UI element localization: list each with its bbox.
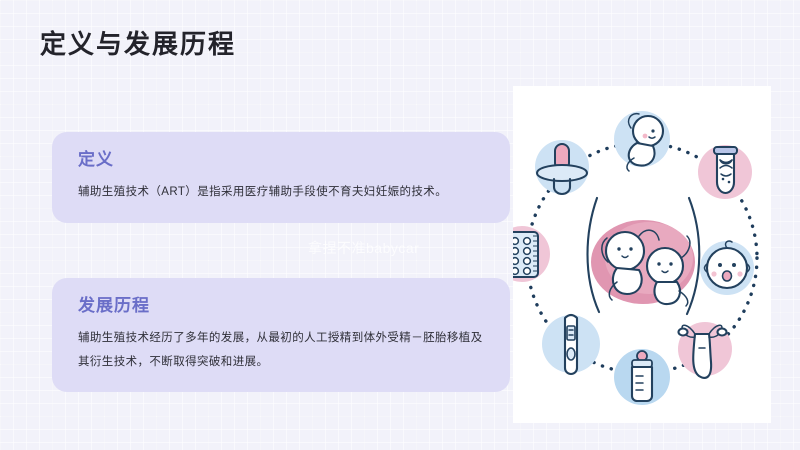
history-card-body: 辅助生殖技术经历了多年的发展，从最初的人工授精到体外受精－胚胎移植及其衍生技术，… bbox=[78, 327, 486, 374]
definition-card: 定义 辅助生殖技术（ART）是指采用医疗辅助手段使不育夫妇妊娠的技术。 bbox=[52, 132, 510, 223]
slide-canvas: 定义与发展历程 定义 辅助生殖技术（ART）是指采用医疗辅助手段使不育夫妇妊娠的… bbox=[0, 0, 800, 450]
illustration-panel: .ol { fill:none; stroke:#23415e; stroke-… bbox=[513, 86, 771, 423]
baby-face-icon bbox=[700, 241, 754, 295]
history-card-heading: 发展历程 bbox=[78, 295, 486, 316]
pill-blister-icon bbox=[513, 226, 550, 282]
pacifier-icon bbox=[535, 140, 589, 194]
pregnancy-test-icon bbox=[542, 315, 600, 374]
page-title: 定义与发展历程 bbox=[40, 28, 236, 62]
twins-in-womb-icon bbox=[591, 220, 695, 306]
definition-card-heading: 定义 bbox=[78, 149, 486, 170]
fetus-icon bbox=[614, 111, 670, 171]
fertility-cycle-illustration: .ol { fill:none; stroke:#23415e; stroke-… bbox=[513, 86, 771, 423]
watermark-text: 拿捏不准babycar bbox=[308, 238, 419, 258]
definition-card-body: 辅助生殖技术（ART）是指采用医疗辅助手段使不育夫妇妊娠的技术。 bbox=[78, 181, 486, 205]
baby-bottle-icon bbox=[614, 349, 670, 405]
dna-test-tube-icon bbox=[698, 145, 752, 199]
uterus-icon bbox=[678, 322, 732, 378]
history-card: 发展历程 辅助生殖技术经历了多年的发展，从最初的人工授精到体外受精－胚胎移植及其… bbox=[52, 278, 510, 392]
